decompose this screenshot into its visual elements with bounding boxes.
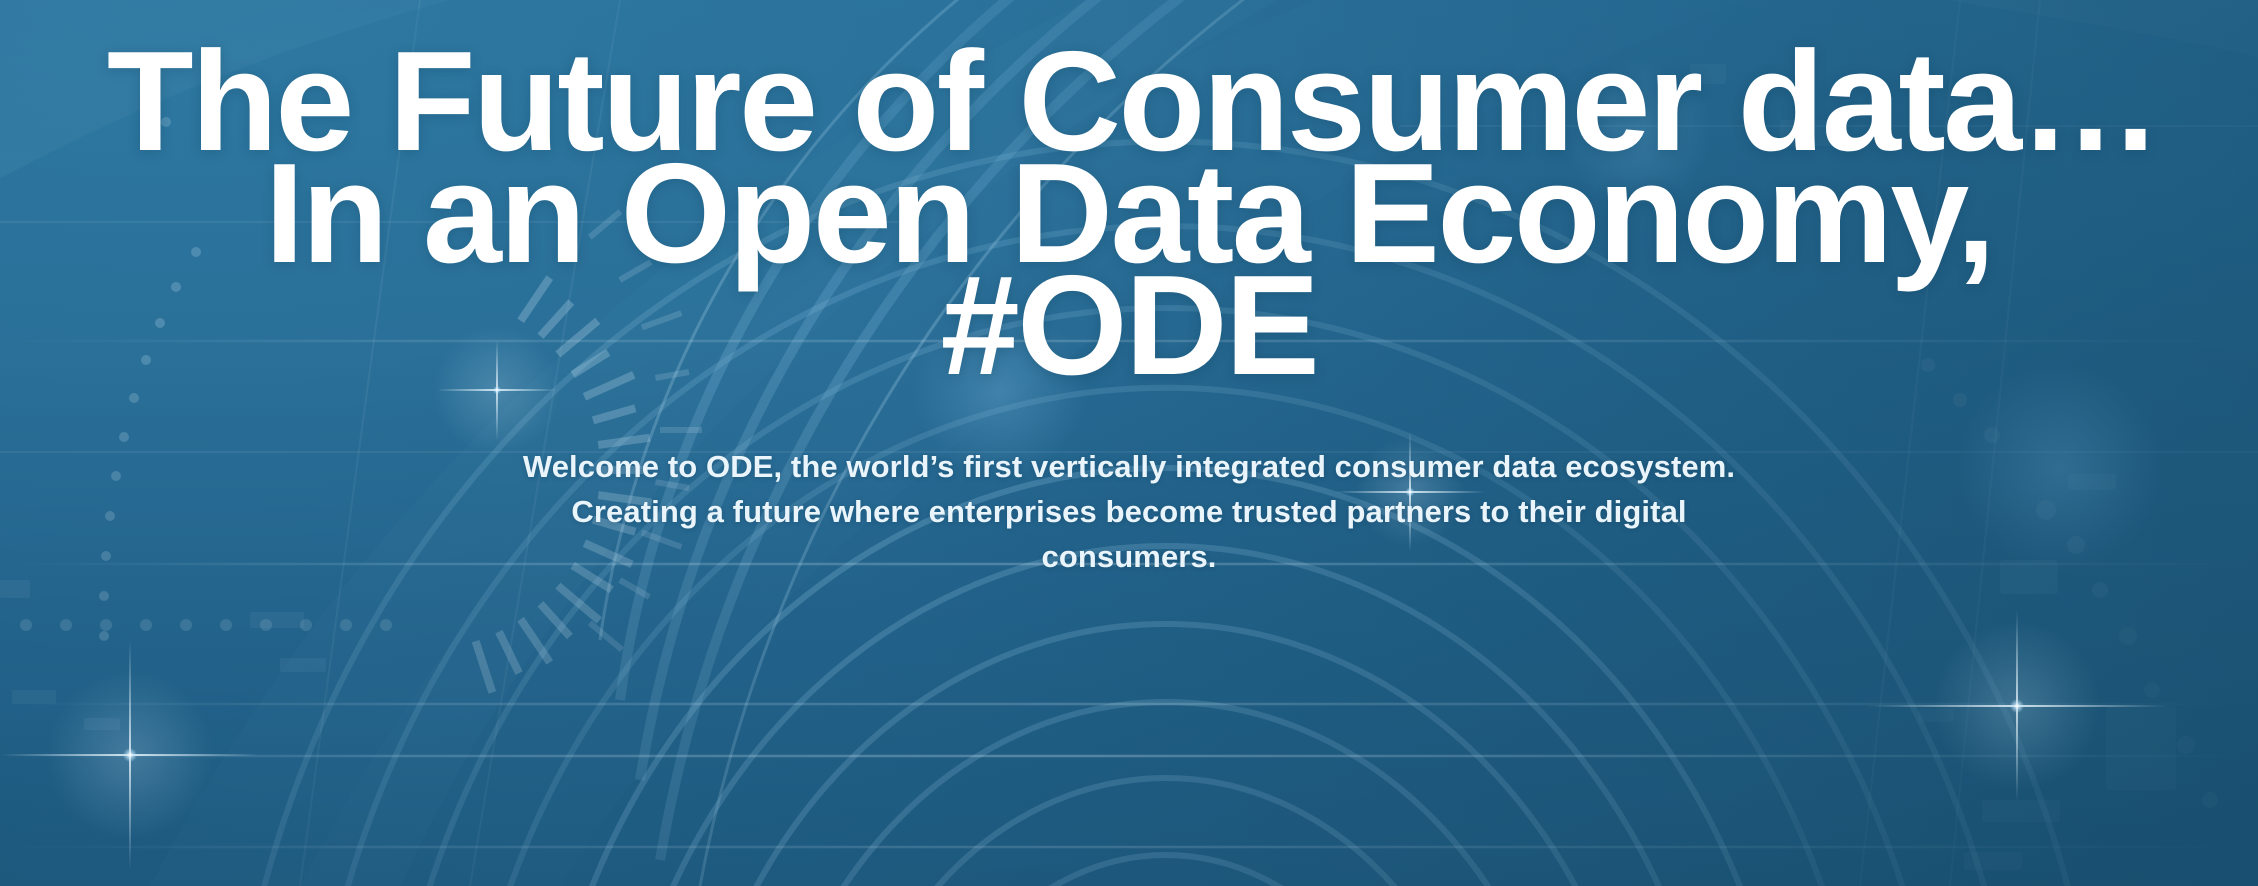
hero-headline: The Future of Consumer data… In an Open … xyxy=(0,46,2258,382)
hero-content: The Future of Consumer data… In an Open … xyxy=(0,0,2258,886)
hero-subtitle: Welcome to ODE, the world’s first vertic… xyxy=(519,444,1739,579)
hero-banner: The Future of Consumer data… In an Open … xyxy=(0,0,2258,886)
